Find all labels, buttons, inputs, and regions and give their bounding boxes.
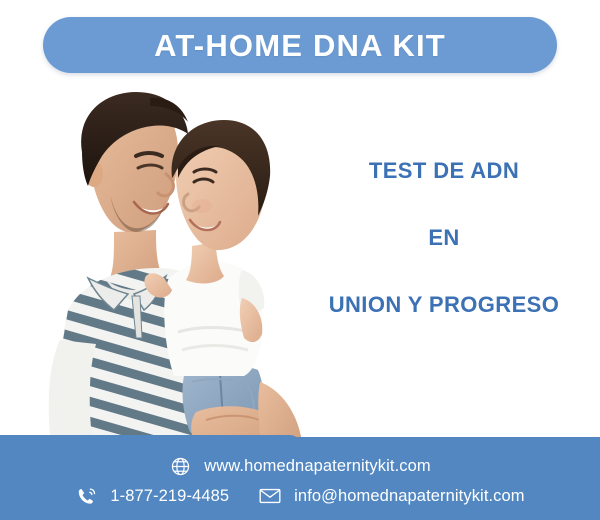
header-band: AT-HOME DNA KIT bbox=[0, 0, 600, 92]
globe-icon bbox=[169, 455, 191, 477]
email-text: info@homednapaternitykit.com bbox=[294, 487, 525, 506]
footer-row-contact: 1-877-219-4485 info@homednapaternitykit.… bbox=[0, 485, 600, 507]
headline-line-3: UNION Y PROGRESO bbox=[300, 294, 588, 316]
page-title: AT-HOME DNA KIT bbox=[154, 30, 446, 61]
email-item[interactable]: info@homednapaternitykit.com bbox=[259, 485, 525, 507]
father-and-child-photo bbox=[10, 82, 320, 457]
promo-poster: AT-HOME DNA KIT bbox=[0, 0, 600, 520]
footer-row-website: www.homednapaternitykit.com bbox=[0, 455, 600, 477]
hero-photo bbox=[10, 82, 320, 457]
website-item[interactable]: www.homednapaternitykit.com bbox=[169, 455, 430, 477]
phone-item[interactable]: 1-877-219-4485 bbox=[75, 485, 229, 507]
website-text: www.homednapaternitykit.com bbox=[204, 457, 430, 476]
footer-bar: www.homednapaternitykit.com 1-877-219-44… bbox=[0, 437, 600, 520]
title-pill: AT-HOME DNA KIT bbox=[43, 17, 557, 73]
phone-text: 1-877-219-4485 bbox=[110, 487, 229, 506]
envelope-icon bbox=[259, 485, 281, 507]
phone-icon bbox=[75, 485, 97, 507]
headline-line-2: EN bbox=[300, 227, 588, 249]
headline-block: TEST DE ADN EN UNION Y PROGRESO bbox=[300, 160, 588, 316]
headline-line-1: TEST DE ADN bbox=[300, 160, 588, 182]
